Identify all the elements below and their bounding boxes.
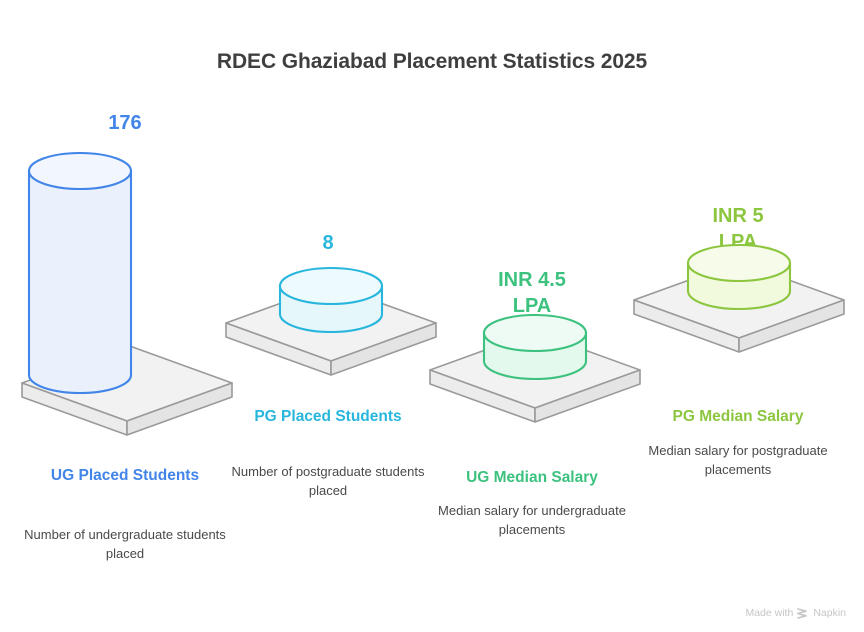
watermark: Made with Napkin <box>745 607 846 619</box>
platform-pg-placed-students <box>218 266 444 396</box>
value-label-ug-median-salary: INR 4.5 LPA <box>428 267 636 319</box>
disc-ug-median-salary <box>484 315 586 379</box>
disc-pg-median-salary <box>688 245 790 309</box>
value-label-pg-placed-students: 8 <box>224 230 432 256</box>
value-label-ug-placed-students: 176 <box>21 110 229 136</box>
item-name-ug-placed-students: UG Placed Students <box>21 464 229 487</box>
item-description-pg-placed-students: Number of postgraduate students placed <box>219 463 437 500</box>
disc-pg-placed-students <box>280 268 382 332</box>
item-name-pg-median-salary: PG Median Salary <box>632 405 844 428</box>
chart-root: RDEC Ghaziabad Placement Statistics 2025… <box>0 0 864 632</box>
page-title: RDEC Ghaziabad Placement Statistics 2025 <box>0 50 864 74</box>
platform-ug-placed-students <box>14 152 240 412</box>
watermark-brand-text: Napkin <box>813 607 846 619</box>
platform-pg-median-salary <box>626 243 852 373</box>
cylinder-ug-placed-students <box>29 153 131 393</box>
item-name-pg-placed-students: PG Placed Students <box>224 405 432 428</box>
platform-ug-median-salary <box>422 313 648 443</box>
napkin-logo-icon <box>797 608 809 619</box>
item-description-ug-placed-students: Number of undergraduate students placed <box>21 526 229 563</box>
item-description-pg-median-salary: Median salary for postgraduate placement… <box>632 442 844 479</box>
watermark-made-with-text: Made with <box>745 607 793 619</box>
item-name-ug-median-salary: UG Median Salary <box>428 466 636 489</box>
item-description-ug-median-salary: Median salary for undergraduate placemen… <box>428 502 636 539</box>
